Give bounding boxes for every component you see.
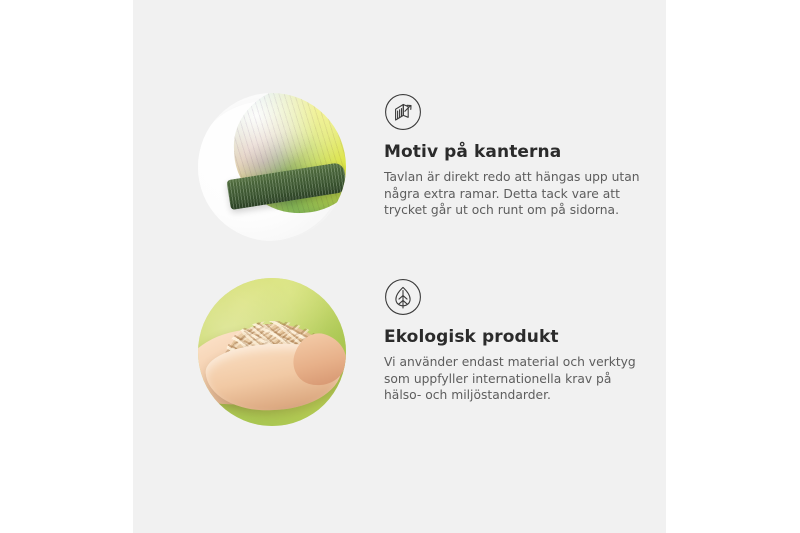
feature-title: Motiv på kanterna [384, 141, 652, 163]
hands-holding-wood-chips-photo [198, 278, 346, 426]
feature-description: Vi använder endast material och verktyg … [384, 354, 652, 404]
canvas-print-corner-photo [198, 93, 346, 241]
feature-page: Motiv på kanterna Tavlan är direkt redo … [0, 0, 800, 533]
feature-text-block: Motiv på kanterna Tavlan är direkt redo … [384, 93, 652, 219]
wood-chips-scene [198, 278, 346, 426]
feature-description: Tavlan är direkt redo att hängas upp uta… [384, 169, 652, 219]
content-panel: Motiv på kanterna Tavlan är direkt redo … [133, 0, 666, 533]
feature-text-block: Ekologisk produkt Vi använder endast mat… [384, 278, 652, 404]
canvas-wrapped-edges-icon [384, 93, 422, 131]
leaf-icon [384, 278, 422, 316]
canvas-photo-scene [198, 93, 346, 241]
feature-title: Ekologisk produkt [384, 326, 652, 348]
